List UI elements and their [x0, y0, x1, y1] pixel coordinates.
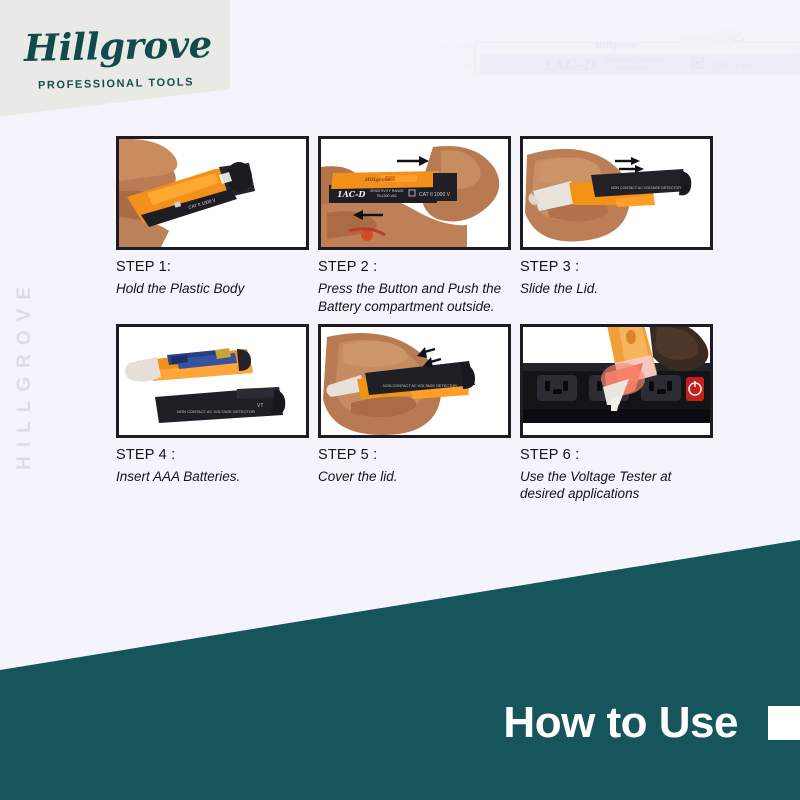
step-description: Cover the lid.: [318, 468, 504, 486]
step-description: Insert AAA Batteries.: [116, 468, 302, 486]
footer-title: How to Use: [503, 698, 738, 748]
step-photo-3: NON CONTACT AC VOLTAGE DETECTOR: [520, 136, 713, 250]
step-card-4: NON CONTACT AC VOLTAGE DETECTOR VT STEP …: [116, 324, 311, 504]
step-title: STEP 6 :: [520, 447, 715, 463]
step-card-5: NON CONTACT AC VOLTAGE DETECTOR STEP 5 :…: [318, 324, 513, 504]
svg-text:Hillgrove: Hillgrove: [364, 177, 391, 183]
step-description: Hold the Plastic Body: [116, 280, 302, 298]
footer-accent-square: [768, 706, 800, 740]
svg-text:1AC-D: 1AC-D: [337, 189, 365, 199]
step-card-1: CAT II 1000 V STEP 1: Hold the Plastic B…: [116, 136, 311, 316]
svg-text:1AC-D: 1AC-D: [543, 56, 596, 74]
step-title: STEP 3 :: [520, 259, 715, 275]
step-photo-2: 1AC-D SENSITIVITY RANGE 90-1000 VAC CAT …: [318, 136, 511, 250]
svg-text:NON CONTACT AC VOLTAGE DETECTO: NON CONTACT AC VOLTAGE DETECTOR: [383, 384, 457, 388]
step-card-2: 1AC-D SENSITIVITY RANGE 90-1000 VAC CAT …: [318, 136, 513, 316]
step-photo-1: CAT II 1000 V: [116, 136, 309, 250]
svg-text:Hillgrove: Hillgrove: [594, 40, 637, 50]
step-description: Use the Voltage Tester at desired applic…: [520, 468, 706, 504]
hero-product-image: 1AC-D SENSITIVITY RANGE 90-1000 VAC CAT …: [380, 8, 800, 126]
step-photo-6: [520, 324, 713, 438]
logo-panel-background: [0, 0, 230, 120]
step-card-6: STEP 6 : Use the Voltage Tester at desir…: [520, 324, 715, 504]
step-photo-5: NON CONTACT AC VOLTAGE DETECTOR: [318, 324, 511, 438]
svg-text:SENSITIVITY RANGE: SENSITIVITY RANGE: [370, 189, 404, 193]
step-description: Slide the Lid.: [520, 280, 706, 298]
step-photo-4: NON CONTACT AC VOLTAGE DETECTOR VT: [116, 324, 309, 438]
svg-text:NON CONTACT AC VOLTAGE DETECTO: NON CONTACT AC VOLTAGE DETECTOR: [177, 409, 255, 414]
svg-text:90-1000 VAC: 90-1000 VAC: [377, 194, 398, 198]
svg-text:90-1000 VAC: 90-1000 VAC: [615, 66, 651, 72]
svg-text:VT: VT: [257, 403, 263, 409]
step-card-3: NON CONTACT AC VOLTAGE DETECTOR STEP 3 :…: [520, 136, 715, 316]
footer-wedge: [0, 520, 800, 800]
steps-grid: CAT II 1000 V STEP 1: Hold the Plastic B…: [116, 136, 730, 503]
step-title: STEP 2 :: [318, 259, 513, 275]
step-title: STEP 5 :: [318, 447, 513, 463]
vertical-brand-text: HILLGROVE: [14, 278, 36, 470]
step-title: STEP 1:: [116, 259, 311, 275]
svg-text:SENSITIVITY RANGE: SENSITIVITY RANGE: [603, 58, 663, 64]
step-title: STEP 4 :: [116, 447, 311, 463]
infographic-page: 1AC-D SENSITIVITY RANGE 90-1000 VAC CAT …: [0, 0, 800, 800]
svg-text:CAT II 10: CAT II 10: [713, 61, 750, 71]
svg-text:CAT II 1000 V: CAT II 1000 V: [419, 192, 451, 198]
svg-text:NON CONTACT AC VOLTAGE DETECTO: NON CONTACT AC VOLTAGE DETECTOR: [611, 186, 681, 190]
step-description: Press the Button and Push the Battery co…: [318, 280, 504, 316]
